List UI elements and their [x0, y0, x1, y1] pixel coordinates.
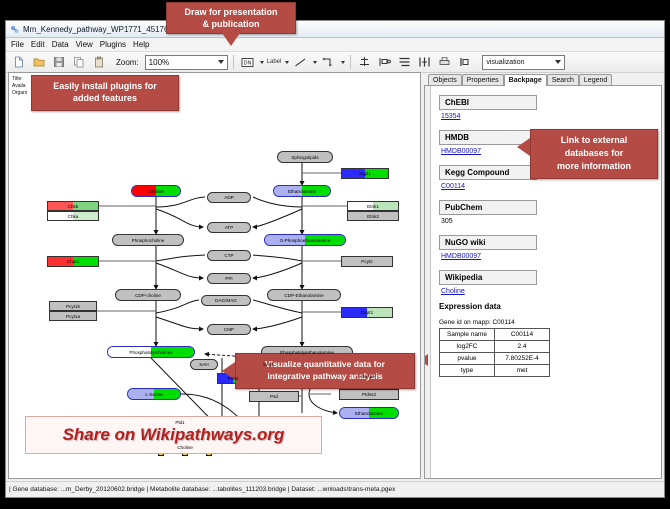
label-dropdown-icon[interactable]: [285, 61, 289, 64]
chevron-down-icon: [218, 60, 224, 64]
open-folder-icon[interactable]: [30, 54, 47, 71]
pathway-node-label: CTP: [224, 253, 233, 258]
zoom-label: Zoom:: [116, 58, 139, 67]
pathway-drawing[interactable]: Title: Availa Organi: [9, 73, 420, 478]
window-title: Mm_Kennedy_pathway_WP1771_45176.gpml: [23, 25, 188, 34]
pathway-node-phosphocholine[interactable]: Phosphocholine: [112, 234, 184, 246]
pathway-gene-label: Chpt1: [67, 259, 79, 264]
table-row: Sample name C00114: [440, 329, 550, 341]
screenshot-root: Mm_Kennedy_pathway_WP1771_45176.gpml Fil…: [0, 0, 670, 509]
pathway-node-phosphatidylcholines[interactable]: Phosphatidylcholines: [107, 346, 195, 358]
pathway-gene-pcyt1a[interactable]: Pcyt1a: [49, 311, 97, 321]
pathway-gene-etnk2[interactable]: Etnk2: [347, 211, 399, 221]
db-header-pubchem: PubChem: [439, 200, 537, 215]
expr-key-type: type: [440, 365, 495, 377]
backpage-content[interactable]: ChEBI 15354 HMDB HMDB00097 Kegg Compound…: [424, 85, 662, 479]
pathway-gene-chka[interactable]: Chka: [47, 211, 99, 221]
label-tool-label[interactable]: Label: [267, 59, 282, 65]
pathway-node-label: SAH: [199, 362, 208, 367]
tab-objects[interactable]: Objects: [428, 74, 462, 85]
expr-val-type: met: [495, 365, 550, 377]
db-link-chebi[interactable]: 15354: [441, 113, 661, 120]
db-link-nugo[interactable]: HMDB00097: [441, 253, 661, 260]
table-row: pvalue 7.80252E-4: [440, 353, 550, 365]
print-icon[interactable]: [436, 54, 453, 71]
callout-link-line1: Link to external: [531, 134, 657, 147]
menu-view[interactable]: View: [76, 40, 93, 49]
pathway-gene-label: Cept1: [361, 310, 373, 315]
visualization-select[interactable]: visualization: [482, 55, 565, 70]
pathway-gene-cept1[interactable]: Cept1: [341, 307, 393, 318]
pathway-gene-label: Pcyt1a: [66, 314, 80, 319]
pathway-gene-chkb[interactable]: Chkb: [47, 201, 99, 211]
pathway-node-ethanolamine-right[interactable]: Ethanolamine: [339, 407, 399, 419]
pathway-gene-label: Sgpl1: [359, 171, 371, 176]
visualization-value: visualization: [486, 59, 524, 66]
table-row: type met: [440, 365, 550, 377]
window-body: Title: Availa Organi: [6, 70, 664, 481]
pathway-node-label: DAG/MAG: [215, 298, 237, 303]
paste-icon[interactable]: [90, 54, 107, 71]
copy-icon[interactable]: [70, 54, 87, 71]
pathway-node-label: L-Serine: [357, 374, 374, 379]
callout-plugins: Easily install plugins for added feature…: [31, 75, 179, 111]
callout-draw-line1: Draw for presentation: [167, 6, 295, 18]
expr-val-pvalue: 7.80252E-4: [495, 353, 550, 365]
menu-data[interactable]: Data: [52, 40, 69, 49]
pathway-node-choline-top[interactable]: Choline: [131, 185, 181, 197]
pathway-node-label: Phosphocholine: [132, 238, 165, 243]
pathway-gene-label: Chkb: [68, 204, 79, 209]
pathway-gene-label: Pemt: [228, 376, 239, 381]
expr-key-sample: Sample name: [440, 329, 495, 341]
pathway-gene-label: Etnk2: [367, 214, 379, 219]
zoom-value: 100%: [149, 58, 169, 67]
callout-plugins-line2: added features: [32, 92, 178, 104]
pathway-node-label: ADP: [224, 195, 233, 200]
db-header-wikipedia: Wikipedia: [439, 270, 537, 285]
tab-legend[interactable]: Legend: [579, 74, 612, 85]
expr-key-log2fc: log2FC: [440, 341, 495, 353]
pathway-node-label: ATP: [225, 225, 234, 230]
pathway-gene-label: Pld1: [175, 420, 184, 425]
callout-expression-arrow: [424, 354, 428, 366]
pathway-gene-pcyt2[interactable]: Pcyt2: [341, 256, 393, 267]
pathway-node-label: PPi: [225, 276, 232, 281]
callout-visualize-line2: integrative pathway analysis: [236, 370, 414, 382]
pathway-gene-ptdss2[interactable]: Ptdss2: [339, 389, 399, 400]
pathway-node-cdp-choline[interactable]: CDP-choline: [115, 289, 181, 301]
pathway-gene-label: Pcyt2: [361, 259, 373, 264]
pathway-node-label: Ethanolamine: [355, 411, 383, 416]
callout-draw: Draw for presentation & publication: [166, 2, 296, 34]
pathway-node-label: SAM: [263, 362, 273, 367]
db-value-pubchem: 305: [441, 218, 661, 225]
pathway-node-label: Phosphatidylethanolamine: [280, 350, 334, 355]
expr-val-log2fc: 2.4: [495, 341, 550, 353]
pathway-gene-label: Etnk1: [367, 204, 379, 209]
pathway-node-ctp[interactable]: CTP: [207, 250, 251, 261]
pathway-gene-label: Psd: [270, 394, 278, 399]
gene-id-on-mapp: Gene id on mapp: C00114: [439, 319, 661, 326]
pathway-node-adp[interactable]: ADP: [207, 192, 251, 203]
menu-help[interactable]: Help: [133, 40, 149, 49]
callout-link-databases: Link to external databases for more info…: [530, 129, 658, 179]
menu-bar: File Edit Data View Plugins Help: [6, 38, 664, 52]
db-link-kegg[interactable]: C00114: [441, 183, 661, 190]
side-panel: Objects Properties Backpage Search Legen…: [424, 72, 662, 479]
pathway-node-ethanolamine-top[interactable]: Ethanolamine: [273, 185, 331, 197]
menu-edit[interactable]: Edit: [31, 40, 45, 49]
align-left-icon[interactable]: [376, 54, 393, 71]
pathway-node-label: L-Serine: [145, 392, 162, 397]
callout-link-line2: databases for: [531, 147, 657, 160]
pathway-node-label: Phosphatidylcholines: [129, 350, 172, 355]
share-banner: Share on Wikipathways.org: [25, 416, 322, 454]
pathway-node-sphingolipids[interactable]: Sphingolipids: [277, 151, 333, 163]
expr-val-sample: C00114: [495, 329, 550, 341]
save-icon[interactable]: [50, 54, 67, 71]
zoom-combobox[interactable]: 100%: [145, 55, 228, 70]
table-row: log2FC 2.4: [440, 341, 550, 353]
pathway-gene-label: Chka: [68, 214, 79, 219]
expr-key-pvalue: pvalue: [440, 353, 495, 365]
pathway-node-ppi[interactable]: PPi: [207, 273, 251, 284]
pathvisio-window: Mm_Kennedy_pathway_WP1771_45176.gpml Fil…: [5, 20, 665, 498]
expression-table: Sample name C00114 log2FC 2.4 pvalue 7.8…: [439, 328, 550, 377]
pathway-node-label: CDP-choline: [135, 293, 161, 298]
pathway-gene-chpt1[interactable]: Chpt1: [47, 256, 99, 267]
pathway-node-o-phosphoethanolamine[interactable]: O-Phosphoethanolamine: [264, 234, 346, 246]
toolbar-separator: [233, 55, 234, 69]
title-bar: Mm_Kennedy_pathway_WP1771_45176.gpml: [6, 21, 664, 38]
pathway-node-label: CDP-Ethanolamine: [284, 293, 323, 298]
datanode-dropdown-icon[interactable]: [260, 61, 264, 64]
datanode-icon[interactable]: DN: [239, 54, 256, 71]
pathway-gene-psd[interactable]: Psd: [249, 391, 299, 402]
pathway-node-label: Choline: [148, 189, 164, 194]
pathway-node-atp[interactable]: ATP: [207, 222, 251, 233]
shape-tool-icon[interactable]: [320, 54, 337, 71]
pathway-gene-sgpl1[interactable]: Sgpl1: [341, 168, 389, 179]
line-dropdown-icon[interactable]: [313, 61, 317, 64]
callout-link-line3: more information: [531, 160, 657, 173]
callout-link-arrow: [517, 138, 530, 156]
menu-plugins[interactable]: Plugins: [100, 40, 126, 49]
pathway-node-l-serine-left[interactable]: L-Serine: [127, 388, 181, 400]
pathway-node-cdp-ethanolamine[interactable]: CDP-Ethanolamine: [267, 289, 341, 301]
callout-draw-line2: & publication: [167, 18, 295, 30]
status-text: | Gene database: ...m_Derby_20120602.bri…: [9, 486, 395, 493]
pathway-canvas[interactable]: Title: Availa Organi: [8, 72, 421, 479]
db-header-kegg: Kegg Compound: [439, 165, 537, 180]
tab-properties[interactable]: Properties: [462, 74, 504, 85]
panel-divider[interactable]: [425, 86, 431, 478]
app-icon: [10, 25, 19, 34]
pathway-node-label: O-Phosphoethanolamine: [280, 238, 331, 243]
pathway-node-label: Ethanolamine: [288, 189, 316, 194]
expression-heading: Expression data: [439, 302, 661, 311]
side-panel-tabs: Objects Properties Backpage Search Legen…: [424, 72, 662, 85]
line-tool-icon[interactable]: [292, 54, 309, 71]
tab-search[interactable]: Search: [547, 74, 579, 85]
pathway-gene-etnk1[interactable]: Etnk1: [347, 201, 399, 211]
align-center-icon[interactable]: [356, 54, 373, 71]
db-header-nugo: NuGO wiki: [439, 235, 537, 250]
callout-draw-arrow: [222, 33, 240, 46]
toolbar-separator-2: [350, 55, 351, 69]
new-file-icon[interactable]: [10, 54, 27, 71]
svg-text:DN: DN: [243, 60, 251, 66]
menu-file[interactable]: File: [11, 40, 24, 49]
pathway-gene-label: Ptdss2: [362, 392, 376, 397]
pathway-node-label: CMP: [224, 327, 234, 332]
same-width-icon[interactable]: [416, 54, 433, 71]
pathway-gene-pcyt1b[interactable]: Pcyt1b: [49, 301, 97, 311]
share-banner-text: Share on Wikipathways.org: [63, 425, 285, 445]
status-bar: | Gene database: ...m_Derby_20120602.bri…: [6, 481, 664, 497]
pathway-gene-label: Pcyt1b: [66, 304, 80, 309]
callout-visualize: Visualize quantitative data for integrat…: [235, 353, 415, 389]
pathway-node-label: Choline: [177, 445, 193, 450]
tab-backpage[interactable]: Backpage: [504, 74, 547, 86]
db-header-chebi: ChEBI: [439, 95, 537, 110]
pathway-node-label: Sphingolipids: [291, 155, 318, 160]
group-icon[interactable]: [456, 54, 473, 71]
db-link-wikipedia[interactable]: Choline: [441, 288, 661, 295]
pathway-node-cmp[interactable]: CMP: [207, 324, 251, 335]
distribute-icon[interactable]: [396, 54, 413, 71]
chevron-down-icon-vis: [555, 60, 561, 64]
shape-dropdown-icon[interactable]: [341, 61, 345, 64]
callout-plugins-line1: Easily install plugins for: [32, 80, 178, 92]
pathway-node-sah[interactable]: SAH: [190, 359, 218, 370]
pathway-node-dagmag[interactable]: DAG/MAG: [201, 295, 251, 306]
